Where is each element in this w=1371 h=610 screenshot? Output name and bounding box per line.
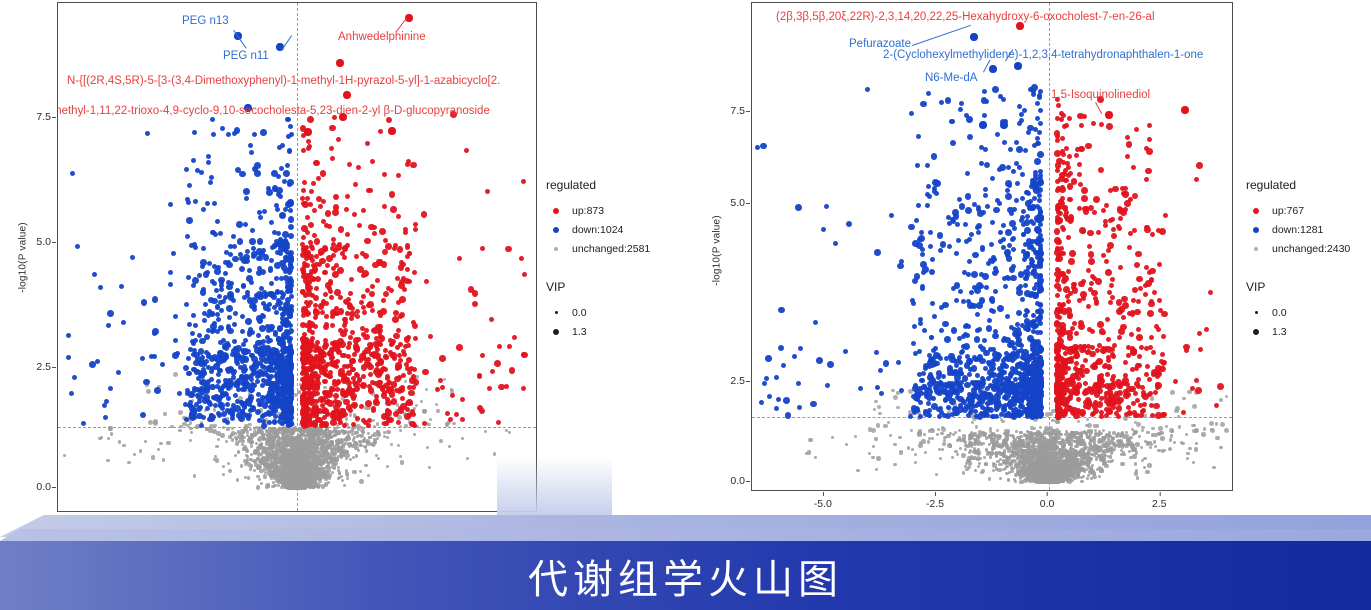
y-tick-5-0: 5.0 (713, 197, 745, 209)
data-point (1136, 476, 1139, 479)
plot-area-right: (2β,3β,5β,20ξ,22R)-2,3,14,20,22,25-Hexah… (751, 2, 1233, 491)
volcano-plot-right: -log10(P value) 0.02.55.07.5 (2β,3β,5β,2… (0, 0, 1371, 515)
data-point (893, 463, 896, 466)
y-tick-7-5: 7.5 (713, 105, 745, 117)
data-point (899, 450, 904, 455)
data-point (898, 436, 901, 439)
data-point (956, 453, 959, 456)
data-point (871, 456, 874, 459)
data-point (931, 437, 934, 440)
data-point (961, 453, 966, 458)
data-point (874, 437, 877, 440)
y-axis-title-right: -log10(P value) (712, 206, 723, 296)
slide-canvas: -log10(P value) 0.02.55.07.5 PEG n13 PEG… (0, 0, 1371, 610)
y-tick-0-0: 0.0 (713, 475, 745, 487)
data-point (854, 435, 857, 438)
data-point (1098, 475, 1101, 478)
y-tick-2-5: 2.5 (713, 375, 745, 387)
